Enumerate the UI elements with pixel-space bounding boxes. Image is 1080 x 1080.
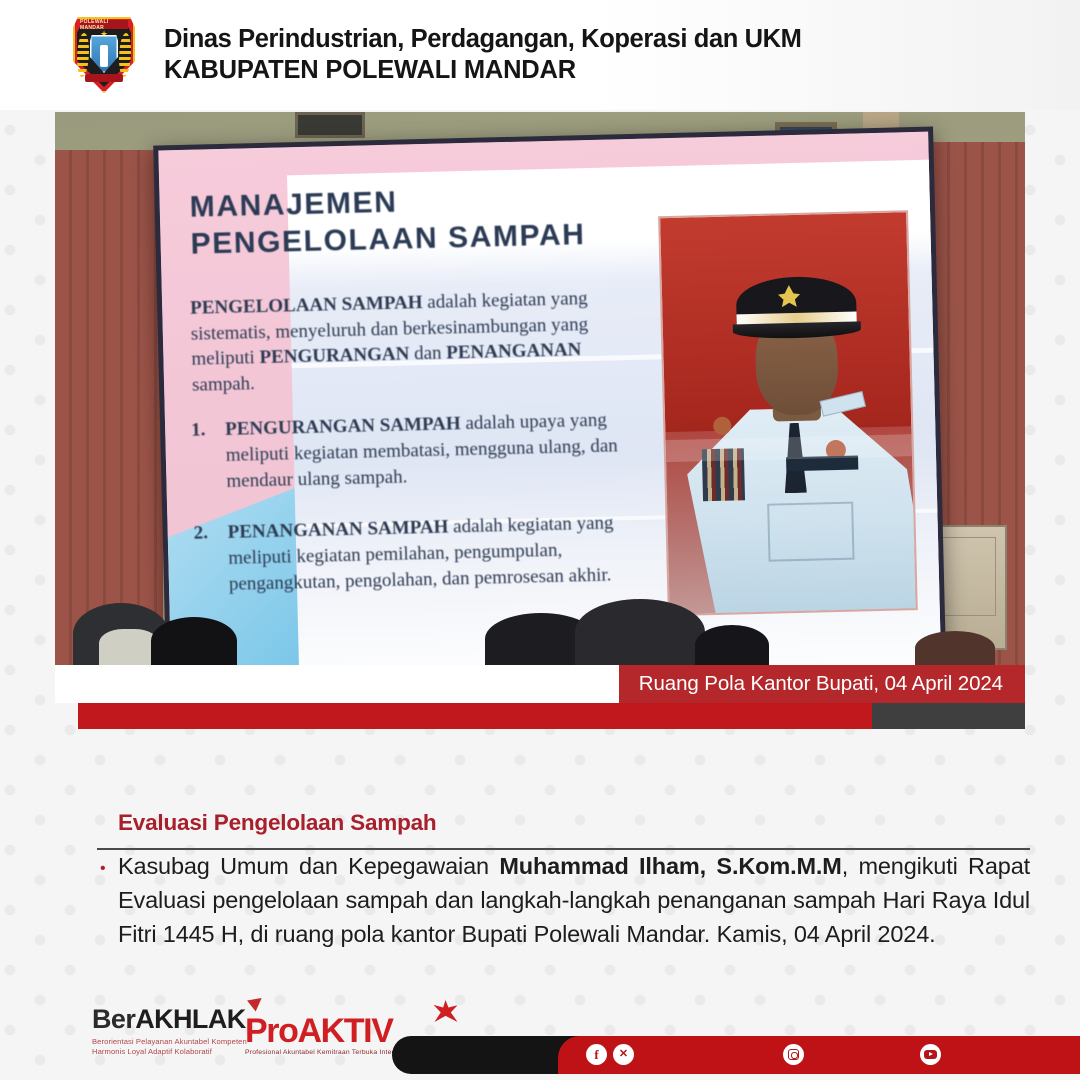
slide-paragraph: PENGELOLAAN SAMPAH adalah kegiatan yang …: [190, 285, 622, 398]
projector-screen: MANAJEMEN PENGELOLAAN SAMPAH PENGELOLAAN…: [153, 127, 947, 665]
audience-silhouette: [915, 631, 995, 665]
slide-list-item-text: PENANGANAN SAMPAH adalah kegiatan yang m…: [227, 510, 635, 597]
agency-logo: POLEWALI MANDAR ★: [58, 9, 150, 101]
slide-paragraph-mid: dan: [409, 343, 446, 365]
header-left-padding: [0, 0, 58, 110]
slide-list-item-strong: PENGURANGAN SAMPAH: [225, 413, 461, 440]
slide-list-item-text: PENGURANGAN SAMPAH adalah upaya yang mel…: [225, 407, 633, 494]
content-bullet: •: [100, 860, 106, 878]
slide-list-item-strong: PENANGANAN SAMPAH: [227, 517, 448, 543]
youtube-icon[interactable]: [920, 1044, 941, 1065]
slide-list: 1. PENGURANGAN SAMPAH adalah upaya yang …: [191, 407, 636, 625]
official-portrait-image: [658, 210, 918, 616]
slide-list-item-number: 1.: [191, 417, 227, 495]
berakhlak-text-a: Ber: [92, 1004, 135, 1034]
accent-bar-red: [78, 703, 872, 729]
slide-paragraph-strong: PENGELOLAAN SAMPAH: [190, 292, 423, 319]
proaktiv-text-a: Pro: [245, 1012, 297, 1050]
slide-list-item-number: 2.: [193, 520, 229, 598]
caption-spacer: [55, 665, 619, 703]
header-title-line2: KABUPATEN POLEWALI MANDAR: [164, 55, 801, 86]
x-twitter-icon[interactable]: ✕: [613, 1044, 634, 1065]
berakhlak-tagline-line1: Berorientasi Pelayanan Akuntabel Kompete…: [92, 1037, 247, 1048]
page-header: POLEWALI MANDAR ★ Dinas Perindustrian, P…: [0, 0, 1080, 110]
header-title-line1: Dinas Perindustrian, Perdagangan, Kopera…: [164, 24, 801, 55]
berakhlak-text-b: AKHLAK: [135, 1004, 245, 1034]
proaktiv-text-b: AKTIV: [297, 1012, 392, 1050]
event-photo: MANAJEMEN PENGELOLAAN SAMPAH PENGELOLAAN…: [55, 112, 1025, 665]
page-footer: BerAKHLAK Berorientasi Pelayanan Akuntab…: [0, 996, 1080, 1080]
content-body-pre: Kasubag Umum dan Kepegawaian: [118, 853, 499, 879]
photo-caption: Ruang Pola Kantor Bupati, 04 April 2024: [619, 665, 1025, 703]
content-title: Evaluasi Pengelolaan Sampah: [118, 810, 436, 836]
photo-caption-row: Ruang Pola Kantor Bupati, 04 April 2024: [55, 665, 1025, 703]
berakhlak-wordmark: BerAKHLAK: [92, 1004, 247, 1035]
instagram-icon[interactable]: [783, 1044, 804, 1065]
audience-silhouette: [575, 599, 705, 665]
berakhlak-logo: BerAKHLAK Berorientasi Pelayanan Akuntab…: [92, 1004, 247, 1058]
proaktiv-spark-icon: [434, 1000, 458, 1022]
content-body: Kasubag Umum dan Kepegawaian Muhammad Il…: [118, 850, 1030, 951]
accent-bar-gray: [872, 703, 1025, 729]
wall-panel-left: [55, 150, 163, 665]
emblem-band-text: POLEWALI MANDAR: [80, 20, 128, 29]
wall-frame-left: [295, 112, 365, 138]
content-body-person-name: Muhammad Ilham, S.Kom.M.M: [499, 853, 841, 879]
header-title-block: Dinas Perindustrian, Perdagangan, Kopera…: [164, 24, 801, 86]
slide-list-item: 2. PENANGANAN SAMPAH adalah kegiatan yan…: [193, 510, 635, 598]
footer-red-bar: [558, 1036, 1080, 1074]
slide-paragraph-strong3: PENANGANAN: [446, 339, 582, 363]
berakhlak-arrow-icon: [247, 992, 266, 1011]
audience-silhouette: [151, 617, 237, 665]
projector-slide: MANAJEMEN PENGELOLAAN SAMPAH PENGELOLAAN…: [158, 132, 941, 665]
slide-paragraph-end: sampah.: [192, 373, 255, 396]
berakhlak-tagline: Berorientasi Pelayanan Akuntabel Kompete…: [92, 1037, 247, 1058]
slide-list-item: 1. PENGURANGAN SAMPAH adalah upaya yang …: [191, 407, 633, 495]
berakhlak-tagline-line2: Harmonis Loyal Adaptif Kolaboratif: [92, 1047, 247, 1058]
polewali-mandar-coat-of-arms-icon: POLEWALI MANDAR ★: [73, 17, 135, 93]
slide-paragraph-strong2: PENGURANGAN: [259, 344, 409, 369]
audience-silhouette: [695, 625, 769, 665]
facebook-icon[interactable]: f: [586, 1044, 607, 1065]
accent-bar: [78, 703, 1025, 729]
